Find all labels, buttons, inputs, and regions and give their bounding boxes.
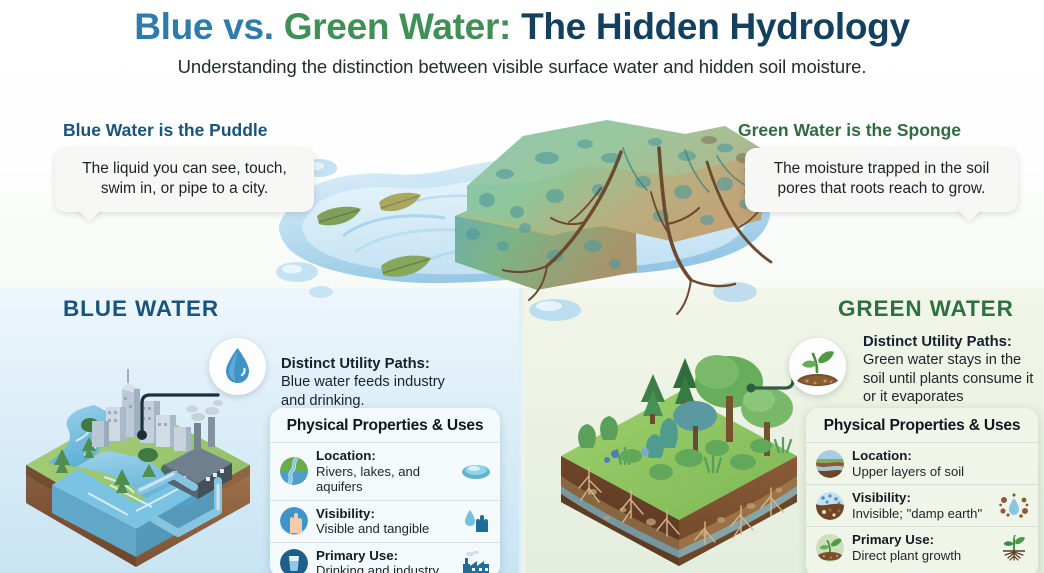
green-card-row-visibility: Visibility: Invisible; "damp earth" — [806, 484, 1038, 526]
factory-icon — [461, 550, 491, 573]
seedling-in-soil-icon — [789, 338, 846, 395]
green-card-row-use: Primary Use: Direct plant growth — [806, 526, 1038, 568]
green-location-label: Location: — [852, 448, 991, 464]
hand-in-water-icon — [280, 507, 308, 535]
blue-row-text: Primary Use: Drinking and industry — [316, 548, 453, 573]
blue-use-label: Primary Use: — [316, 548, 453, 564]
green-visibility-value: Invisible; "damp earth" — [852, 506, 991, 521]
green-use-label: Primary Use: — [852, 532, 991, 548]
blue-row-text: Location: Rivers, lakes, and aquifers — [316, 448, 453, 495]
blue-location-value: Rivers, lakes, and aquifers — [316, 464, 453, 495]
utility-paths-green: Distinct Utility Paths: Green water stay… — [863, 333, 1035, 406]
section-heading-blue: BLUE WATER — [63, 296, 219, 322]
blue-visibility-value: Visible and tangible — [316, 521, 453, 536]
title-blue-part: Blue vs. — [134, 6, 283, 47]
utility-label-green: Distinct Utility Paths: — [863, 334, 1012, 350]
blue-card-row-visibility: Visibility: Visible and tangible — [270, 500, 500, 542]
utility-text-blue: Blue water feeds industry and drinking. — [281, 374, 445, 408]
hand-touch-droplet-icon — [461, 508, 491, 534]
utility-label-blue: Distinct Utility Paths: — [281, 356, 430, 372]
moist-soil-icon — [816, 492, 844, 520]
blue-location-label: Location: — [316, 448, 453, 464]
header: Blue vs. Green Water: The Hidden Hydrolo… — [0, 8, 1044, 78]
green-location-value: Upper layers of soil — [852, 464, 991, 479]
droplet-soil-particles-icon — [999, 493, 1029, 519]
infographic-canvas: Blue vs. Green Water: The Hidden Hydrolo… — [0, 0, 1044, 573]
title-green-part: Green Water: — [284, 6, 521, 47]
river-globe-icon — [280, 457, 308, 485]
blue-card-row-location: Location: Rivers, lakes, and aquifers — [270, 442, 500, 500]
center-illustration — [255, 96, 815, 321]
blue-card-row-use: Primary Use: Drinking and industry — [270, 542, 500, 573]
utility-paths-blue: Distinct Utility Paths: Blue water feeds… — [281, 355, 461, 410]
background-seam — [519, 288, 525, 573]
green-card-row-location: Location: Upper layers of soil — [806, 442, 1038, 484]
soil-layers-icon — [816, 450, 844, 478]
page-title: Blue vs. Green Water: The Hidden Hydrolo… — [0, 8, 1044, 47]
green-water-illustration — [545, 330, 813, 573]
puddle-icon — [461, 458, 491, 484]
blue-row-text: Visibility: Visible and tangible — [316, 506, 453, 537]
green-row-text: Visibility: Invisible; "damp earth" — [852, 490, 991, 521]
title-dark-part: The Hidden Hydrology — [521, 6, 910, 47]
section-heading-green: GREEN WATER — [838, 296, 1014, 322]
green-location-right-spacer — [999, 451, 1029, 477]
green-properties-card: Physical Properties & Uses Location: Upp… — [806, 408, 1038, 573]
blue-visibility-label: Visibility: — [316, 506, 453, 522]
callout-bubble-blue: The liquid you can see, touch, swim in, … — [55, 148, 314, 212]
blue-properties-card: Physical Properties & Uses Location: Riv… — [270, 408, 500, 573]
blue-use-value: Drinking and industry — [316, 563, 453, 573]
drinking-glass-icon — [280, 549, 308, 573]
utility-text-green: Green water stays in the soil until plan… — [863, 352, 1033, 404]
green-visibility-label: Visibility: — [852, 490, 991, 506]
blue-card-title: Physical Properties & Uses — [270, 408, 500, 442]
water-droplet-icon — [209, 338, 266, 395]
plant-with-roots-icon — [999, 535, 1029, 561]
green-use-value: Direct plant growth — [852, 548, 991, 563]
callout-heading-blue: Blue Water is the Puddle — [63, 120, 268, 141]
seedling-circle-icon — [816, 534, 844, 562]
callout-heading-green: Green Water is the Sponge — [738, 120, 961, 141]
green-row-text: Primary Use: Direct plant growth — [852, 532, 991, 563]
callout-bubble-green: The moisture trapped in the soil pores t… — [745, 148, 1018, 212]
green-card-title: Physical Properties & Uses — [806, 408, 1038, 442]
page-subtitle: Understanding the distinction between vi… — [0, 56, 1044, 78]
green-row-text: Location: Upper layers of soil — [852, 448, 991, 479]
